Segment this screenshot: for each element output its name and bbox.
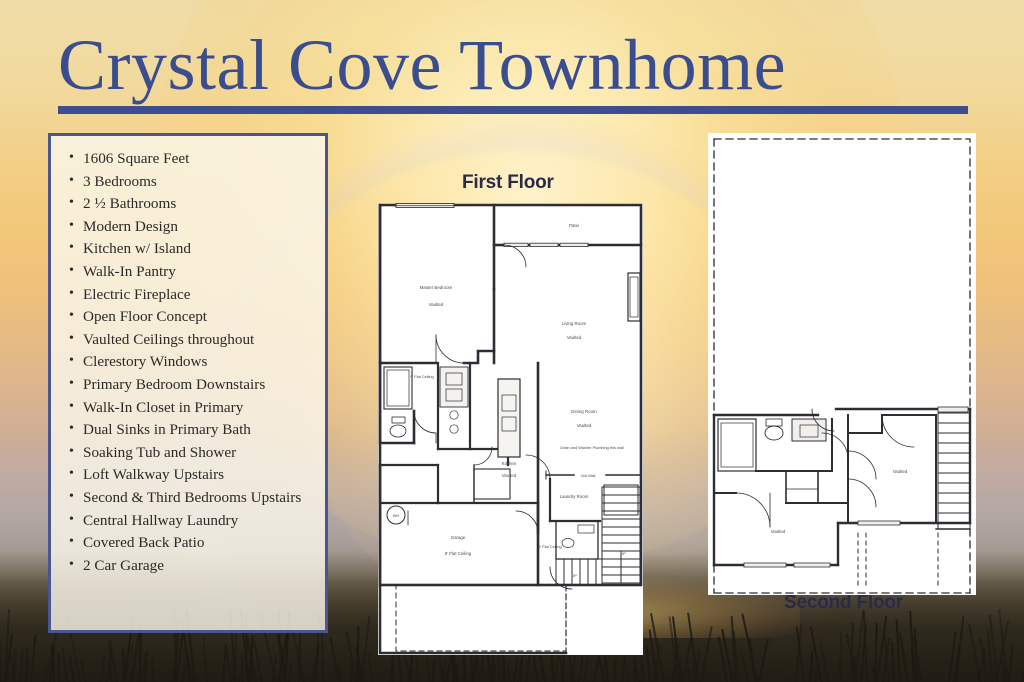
room-label-dining-room: Dining Room: [571, 409, 597, 414]
room-label-master-bedroom: Master Bedroom: [420, 285, 453, 290]
feature-item: Covered Back Patio: [65, 532, 315, 555]
room-note-master-bedroom: Vaulted: [429, 302, 444, 307]
annotation-water-heater: WH: [393, 513, 400, 518]
feature-item: 1606 Square Feet: [65, 148, 315, 171]
feature-item: Electric Fireplace: [65, 284, 315, 307]
room-note-bedroom-two: Vaulted: [771, 529, 786, 534]
feature-item: Central Hallway Laundry: [65, 510, 315, 533]
room-label-garage: Garage: [451, 535, 466, 540]
feature-item: Loft Walkway Upstairs: [65, 464, 315, 487]
feature-item: Kitchen w/ Island: [65, 238, 315, 261]
title-underline-rule: [58, 106, 968, 114]
room-note-dining-room: Vaulted: [577, 423, 592, 428]
features-list: 1606 Square Feet3 Bedrooms2 ½ BathroomsM…: [65, 148, 315, 577]
second-floor-plan: Vaulted Vaulted: [708, 133, 976, 595]
second-floor-heading: Second Floor: [784, 592, 903, 614]
annotation-2x6-wall: 2x6 Wall: [581, 473, 596, 478]
room-label-kitchen: Kitchen: [502, 461, 517, 466]
first-floor-plan: Master Bedroom Vaulted Patio Living Room…: [378, 203, 643, 655]
annotation-plumbing-wall: Drain and Washer Plumbing this wall: [560, 445, 624, 450]
room-label-laundry-room: Laundry Room: [560, 494, 589, 499]
first-floor-plan-drawing: Master Bedroom Vaulted Patio Living Room…: [378, 203, 643, 655]
feature-item: 3 Bedrooms: [65, 171, 315, 194]
title-block: Crystal Cove Townhome: [58, 26, 968, 114]
feature-item: Modern Design: [65, 216, 315, 239]
feature-item: 2 ½ Bathrooms: [65, 193, 315, 216]
grass-blade: [476, 659, 478, 682]
room-note-garage: 9' Flat Ceiling: [445, 551, 472, 556]
feature-item: Open Floor Concept: [65, 306, 315, 329]
feature-item: Walk-In Pantry: [65, 261, 315, 284]
feature-item: Second & Third Bedrooms Upstairs: [65, 487, 315, 510]
grass-blade: [392, 663, 394, 682]
feature-item: Vaulted Ceilings throughout: [65, 329, 315, 352]
room-note-kitchen: Vaulted: [502, 473, 517, 478]
room-label-patio: Patio: [569, 223, 580, 228]
feature-item: 2 Car Garage: [65, 555, 315, 578]
annotation-flat-ceiling-hall: 9' Flat Ceiling: [538, 544, 561, 549]
first-floor-heading: First Floor: [462, 172, 554, 194]
room-note-living-room: Vaulted: [567, 335, 582, 340]
poster-canvas: Crystal Cove Townhome 1606 Square Feet3 …: [0, 0, 1024, 682]
room-label-living-room: Living Room: [562, 321, 587, 326]
feature-item: Dual Sinks in Primary Bath: [65, 419, 315, 442]
grass-blade: [432, 661, 435, 682]
annotation-flat-ceiling-bath: 9' Flat Ceiling: [410, 374, 433, 379]
room-note-bedroom-three: Vaulted: [893, 469, 908, 474]
feature-item: Soaking Tub and Shower: [65, 442, 315, 465]
feature-item: Walk-In Closet in Primary: [65, 397, 315, 420]
features-panel: 1606 Square Feet3 Bedrooms2 ½ BathroomsM…: [48, 133, 328, 633]
second-floor-plan-drawing: Vaulted Vaulted: [708, 133, 976, 595]
feature-item: Primary Bedroom Downstairs: [65, 374, 315, 397]
annotation-stairs-up-lower: UP: [571, 573, 577, 578]
page-title: Crystal Cove Townhome: [58, 26, 968, 104]
feature-item: Clerestory Windows: [65, 351, 315, 374]
annotation-stairs-up-upper: UP: [620, 551, 626, 556]
